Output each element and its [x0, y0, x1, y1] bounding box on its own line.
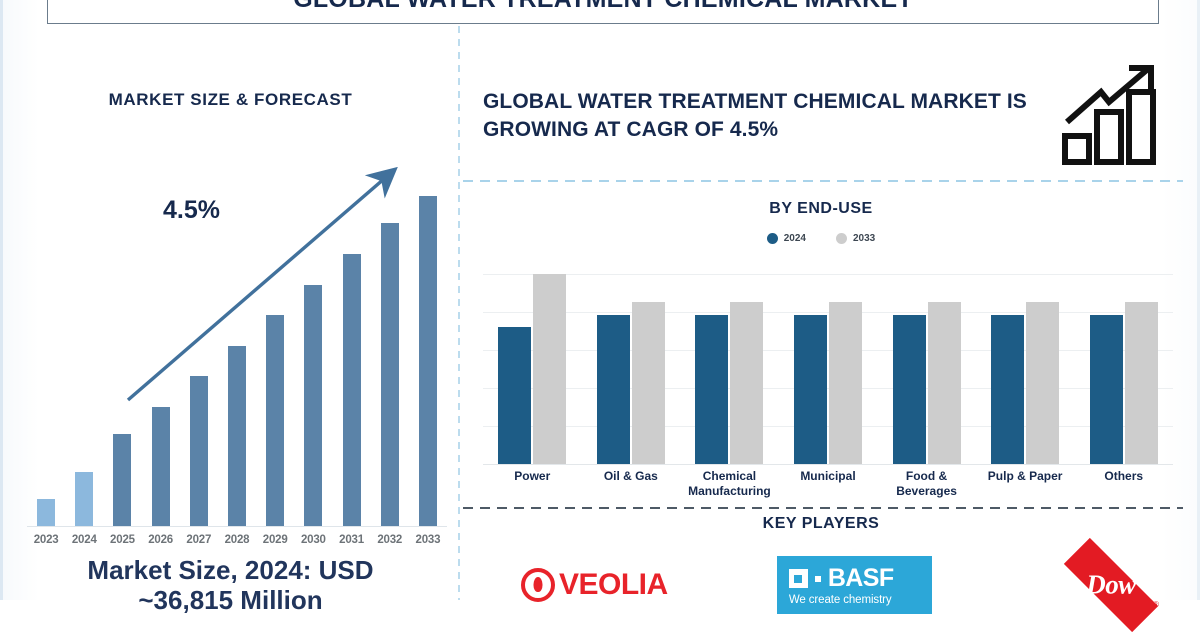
year-axis-label: 2024: [65, 534, 103, 546]
year-bar-column: [152, 186, 170, 526]
year-bar: [37, 499, 55, 526]
year-bar-column: [228, 186, 246, 526]
end-use-bar-2024: [794, 315, 827, 464]
year-axis-label: 2031: [332, 534, 370, 546]
end-use-category-label: ChemicalManufacturing: [672, 469, 787, 499]
year-bar-column: [37, 186, 55, 526]
key-players-logos: VEOLIA BASF We create chemistry Dow ®: [521, 544, 1181, 626]
end-use-bar-group: [779, 264, 878, 464]
year-bar-chart: [27, 186, 447, 526]
market-size-value: Market Size, 2024: USD ~36,815 Million: [3, 556, 458, 616]
year-bar: [75, 472, 93, 526]
year-bar: [343, 254, 361, 526]
year-bar-column: [266, 186, 284, 526]
end-use-legend: 2024 2033: [461, 233, 1181, 244]
dow-logo[interactable]: Dow ®: [1041, 559, 1181, 611]
dow-wordmark: Dow: [1041, 570, 1181, 601]
year-axis-label: 2027: [180, 534, 218, 546]
market-size-panel: MARKET SIZE & FORECAST 4.5% 202320242025…: [3, 26, 458, 600]
year-bar: [152, 407, 170, 526]
veolia-mark-icon: [521, 568, 555, 602]
year-bar-column: [419, 186, 437, 526]
market-size-line-2: ~36,815 Million: [3, 586, 458, 616]
year-bar: [266, 315, 284, 526]
basf-tagline: We create chemistry: [789, 594, 918, 606]
page-title: GLOBAL WATER TREATMENT CHEMICAL MARKET: [293, 0, 913, 14]
year-bar-column: [190, 186, 208, 526]
year-bar: [304, 285, 322, 526]
end-use-bar-2033: [730, 302, 763, 464]
end-use-bar-2033: [928, 302, 961, 464]
infographic-root: GLOBAL WATER TREATMENT CHEMICAL MARKET M…: [0, 0, 1200, 600]
end-use-bar-group: [976, 264, 1075, 464]
year-bar-column: [113, 186, 131, 526]
section-divider-bottom: [463, 507, 1183, 509]
end-use-bar-2024: [597, 315, 630, 464]
year-bar: [228, 346, 246, 526]
year-bar: [190, 376, 208, 526]
legend-dot-2024: [767, 233, 778, 244]
year-axis-label: 2033: [409, 534, 447, 546]
basf-logo-row: BASF: [789, 566, 918, 591]
end-use-bar-group: [877, 264, 976, 464]
year-chart-baseline: [27, 526, 447, 527]
market-size-heading: MARKET SIZE & FORECAST: [3, 90, 458, 110]
section-divider-top: [463, 180, 1183, 182]
year-axis-label: 2025: [103, 534, 141, 546]
end-use-bar-2033: [829, 302, 862, 464]
end-use-bar-2024: [991, 315, 1024, 464]
veolia-logo[interactable]: VEOLIA: [521, 568, 668, 602]
legend-item-2033[interactable]: 2033: [836, 233, 875, 244]
end-use-bar-2024: [1090, 315, 1123, 464]
end-use-bar-chart: [483, 264, 1173, 464]
year-axis-label: 2032: [371, 534, 409, 546]
year-bar-column: [304, 186, 322, 526]
market-size-line-1: Market Size, 2024: USD: [3, 556, 458, 586]
basf-logo[interactable]: BASF We create chemistry: [777, 556, 932, 614]
panel-divider: [458, 26, 460, 600]
year-bar: [381, 223, 399, 526]
year-axis-label: 2029: [256, 534, 294, 546]
page-title-frame: GLOBAL WATER TREATMENT CHEMICAL MARKET: [47, 0, 1159, 24]
year-bar-column: [381, 186, 399, 526]
end-use-section-title: BY END-USE: [461, 200, 1181, 218]
legend-label-2033: 2033: [853, 233, 875, 244]
end-use-panel: GLOBAL WATER TREATMENT CHEMICAL MARKET I…: [461, 26, 1200, 600]
headline-text: GLOBAL WATER TREATMENT CHEMICAL MARKET I…: [483, 88, 1063, 143]
end-use-bar-2033: [632, 302, 665, 464]
end-use-bar-group: [483, 264, 582, 464]
year-axis-label: 2030: [294, 534, 332, 546]
end-use-category-labels: PowerOil & GasChemicalManufacturingMunic…: [483, 469, 1173, 507]
end-use-axis-line: [483, 464, 1173, 465]
year-axis-label: 2026: [142, 534, 180, 546]
end-use-category-label: Oil & Gas: [574, 469, 689, 484]
year-axis-labels: 2023202420252026202720282029203020312032…: [27, 534, 447, 554]
end-use-bar-2024: [893, 315, 926, 464]
end-use-category-label: Pulp & Paper: [968, 469, 1083, 484]
year-bar: [419, 196, 437, 526]
basf-wordmark: BASF: [828, 566, 894, 591]
year-bar: [113, 434, 131, 526]
end-use-bar-2024: [695, 315, 728, 464]
key-players-title: KEY PLAYERS: [461, 515, 1181, 533]
bar-chart-growth-icon: [1061, 64, 1165, 166]
end-use-bar-2033: [1026, 302, 1059, 464]
end-use-category-label: Municipal: [771, 469, 886, 484]
end-use-category-label: Others: [1066, 469, 1181, 484]
year-axis-label: 2028: [218, 534, 256, 546]
legend-item-2024[interactable]: 2024: [767, 233, 806, 244]
end-use-bar-2033: [1125, 302, 1158, 464]
end-use-bar-2033: [533, 274, 566, 464]
end-use-category-label: Food &Beverages: [869, 469, 984, 499]
end-use-bar-group: [1074, 264, 1173, 464]
year-axis-label: 2023: [27, 534, 65, 546]
basf-dot-icon: [815, 576, 821, 582]
year-bar-column: [75, 186, 93, 526]
end-use-bar-2024: [498, 327, 531, 464]
end-use-bar-group: [680, 264, 779, 464]
veolia-wordmark: VEOLIA: [559, 568, 668, 602]
end-use-category-label: Power: [475, 469, 590, 484]
basf-square-icon: [789, 569, 808, 588]
legend-dot-2033: [836, 233, 847, 244]
dow-registered-icon: ®: [1153, 600, 1159, 609]
legend-label-2024: 2024: [784, 233, 806, 244]
end-use-bar-group: [582, 264, 681, 464]
year-bar-column: [343, 186, 361, 526]
